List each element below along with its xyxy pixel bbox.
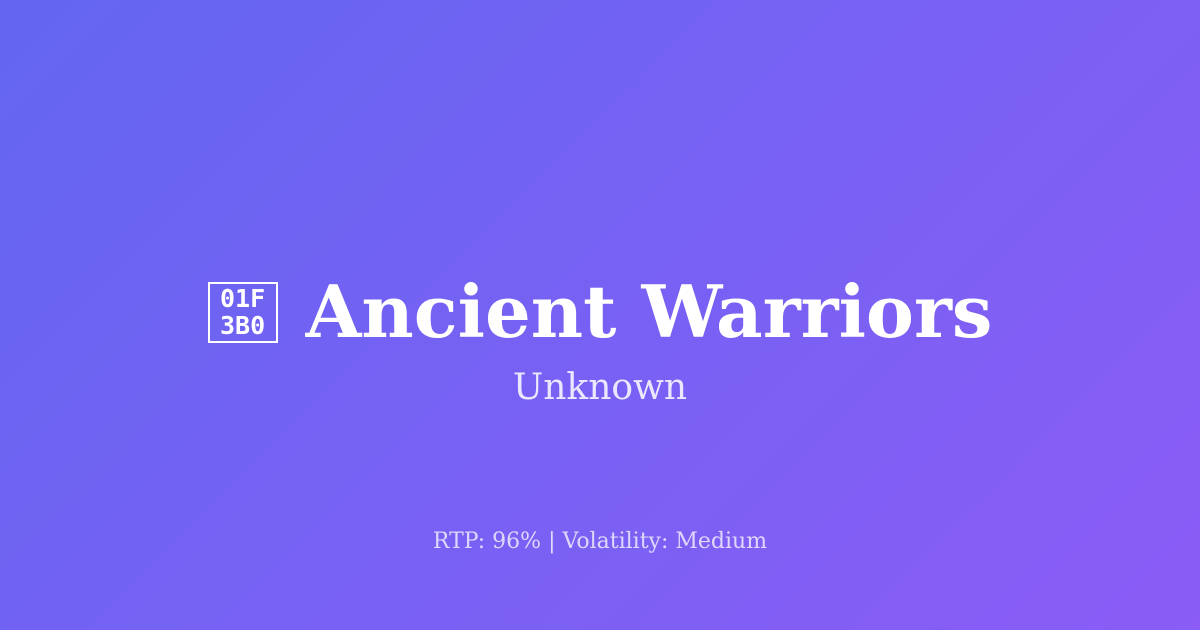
slot-machine-emoji-icon: 01F 3B0 bbox=[208, 282, 278, 343]
provider-name: Unknown bbox=[0, 366, 1200, 409]
game-stats-line: RTP: 96% | Volatility: Medium bbox=[0, 528, 1200, 557]
tofu-codepoint-top: 01F bbox=[220, 285, 265, 312]
og-share-card: 01F 3B0 Ancient Warriors Unknown RTP: 96… bbox=[0, 0, 1200, 630]
tofu-codepoint-bottom: 3B0 bbox=[220, 312, 265, 339]
game-title: Ancient Warriors bbox=[306, 276, 993, 348]
